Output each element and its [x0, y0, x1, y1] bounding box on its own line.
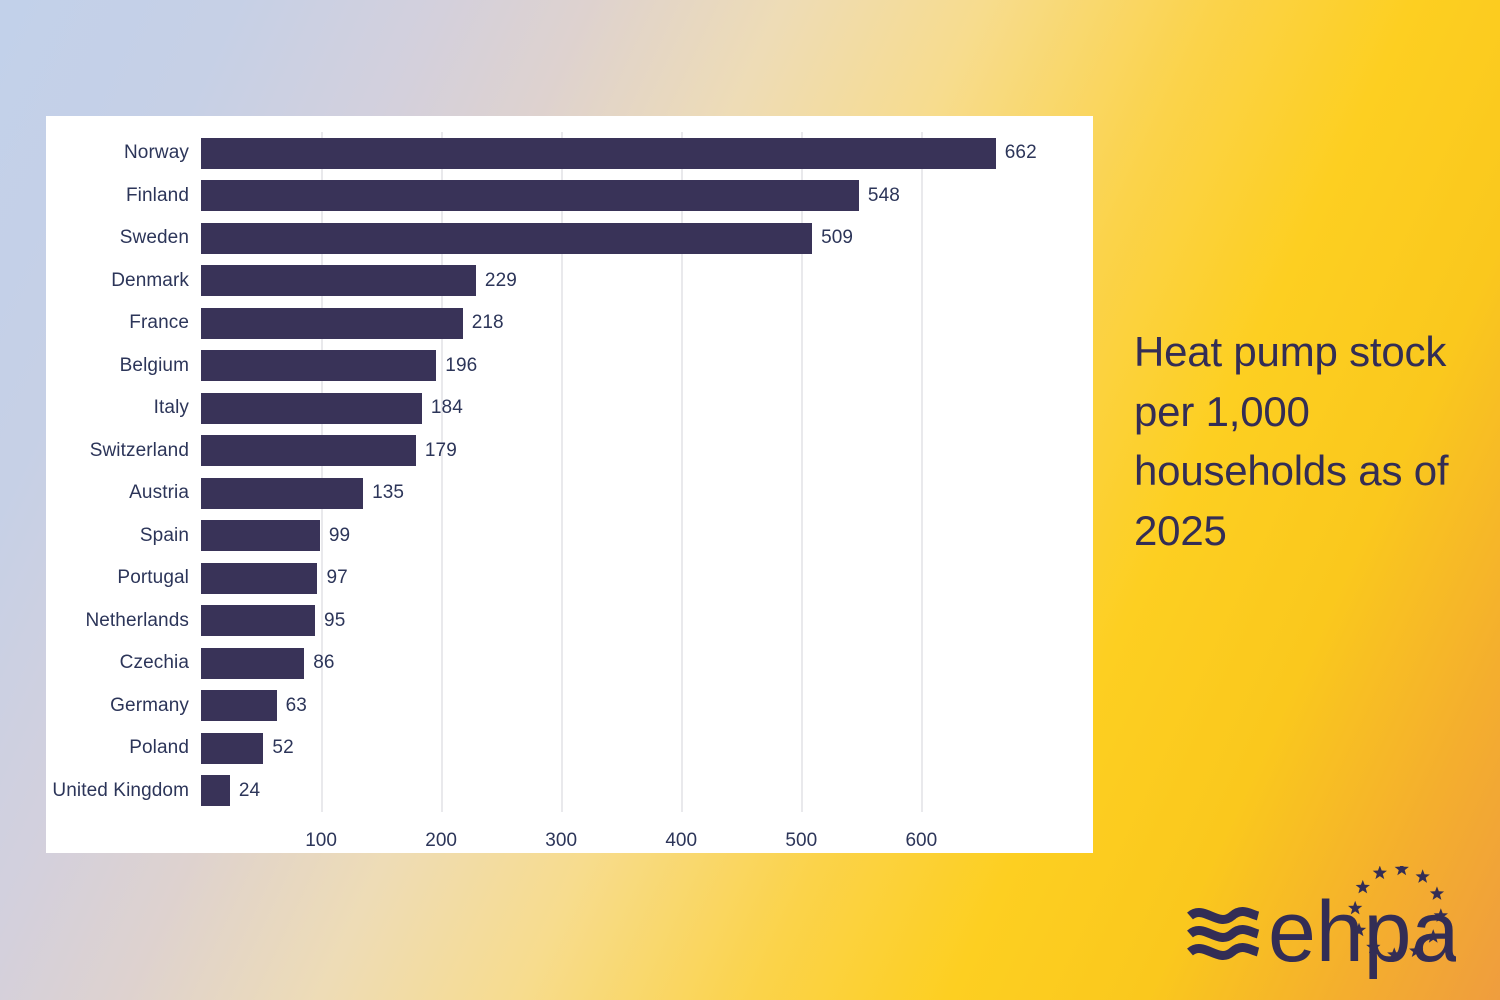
star-icon	[1416, 869, 1430, 883]
chart-panel: 100200300400500600Norway662Finland548Swe…	[46, 116, 1093, 853]
category-label: Finland	[126, 185, 189, 207]
bar-row: Norway662	[201, 138, 1051, 169]
bar[interactable]	[201, 308, 463, 339]
bar-row: Spain99	[201, 520, 1051, 551]
bar-value-label: 99	[329, 525, 350, 547]
x-axis-tick-label: 100	[305, 830, 337, 852]
bar-row: United Kingdom24	[201, 775, 1051, 806]
x-axis-tick-label: 200	[425, 830, 457, 852]
bar-value-label: 52	[272, 737, 293, 759]
bar-value-label: 86	[313, 652, 334, 674]
category-label: Czechia	[120, 652, 189, 674]
bar[interactable]	[201, 435, 416, 466]
category-label: Portugal	[117, 567, 189, 589]
bar-row: Finland548	[201, 180, 1051, 211]
ehpa-logo: ehpa	[1186, 866, 1456, 984]
category-label: Belgium	[120, 355, 189, 377]
bar[interactable]	[201, 733, 263, 764]
bar[interactable]	[201, 775, 230, 806]
category-label: Netherlands	[85, 610, 189, 632]
x-axis-tick-label: 400	[665, 830, 697, 852]
bar[interactable]	[201, 393, 422, 424]
bar-value-label: 135	[372, 482, 404, 504]
bar[interactable]	[201, 265, 476, 296]
bar[interactable]	[201, 180, 859, 211]
bar-value-label: 63	[286, 695, 307, 717]
bar-row: Switzerland179	[201, 435, 1051, 466]
category-label: Norway	[124, 142, 189, 164]
bar-row: Denmark229	[201, 265, 1051, 296]
bar-row: Italy184	[201, 393, 1051, 424]
bar-value-label: 196	[445, 355, 477, 377]
bar-value-label: 218	[472, 312, 504, 334]
bar[interactable]	[201, 690, 277, 721]
bar-value-label: 509	[821, 227, 853, 249]
bar-row: France218	[201, 308, 1051, 339]
bar-value-label: 184	[431, 397, 463, 419]
star-icon	[1395, 866, 1409, 875]
bar-value-label: 24	[239, 780, 260, 802]
bar-value-label: 97	[326, 567, 347, 589]
category-label: Switzerland	[90, 440, 189, 462]
star-icon	[1373, 866, 1387, 879]
bar-value-label: 662	[1005, 142, 1037, 164]
plot-area: 100200300400500600Norway662Finland548Swe…	[201, 132, 1051, 812]
category-label: United Kingdom	[52, 780, 189, 802]
category-label: Germany	[110, 695, 189, 717]
category-label: France	[129, 312, 189, 334]
category-label: Poland	[129, 737, 189, 759]
bar-value-label: 229	[485, 270, 517, 292]
bar-value-label: 548	[868, 185, 900, 207]
category-label: Italy	[154, 397, 189, 419]
bar-row: Poland52	[201, 733, 1051, 764]
x-axis-tick-label: 600	[905, 830, 937, 852]
bar-row: Netherlands95	[201, 605, 1051, 636]
bar[interactable]	[201, 350, 436, 381]
category-label: Sweden	[120, 227, 189, 249]
bar[interactable]	[201, 605, 315, 636]
bar[interactable]	[201, 138, 996, 169]
bar-row: Sweden509	[201, 223, 1051, 254]
bar[interactable]	[201, 520, 320, 551]
bar-row: Germany63	[201, 690, 1051, 721]
bar[interactable]	[201, 563, 317, 594]
bar-value-label: 179	[425, 440, 457, 462]
bar-row: Belgium196	[201, 350, 1051, 381]
bar-row: Czechia86	[201, 648, 1051, 679]
bar-row: Portugal97	[201, 563, 1051, 594]
x-axis-tick-label: 500	[785, 830, 817, 852]
x-axis-tick-label: 300	[545, 830, 577, 852]
ehpa-logo-svg: ehpa	[1186, 866, 1456, 984]
bar[interactable]	[201, 478, 363, 509]
bar[interactable]	[201, 648, 304, 679]
wave-icon	[1190, 912, 1258, 956]
bar-row: Austria135	[201, 478, 1051, 509]
slide-root: 100200300400500600Norway662Finland548Swe…	[0, 0, 1500, 1000]
category-label: Spain	[140, 525, 189, 547]
bar-value-label: 95	[324, 610, 345, 632]
category-label: Austria	[129, 482, 189, 504]
page-title: Heat pump stock per 1,000 households as …	[1134, 322, 1464, 561]
category-label: Denmark	[111, 270, 189, 292]
bar[interactable]	[201, 223, 812, 254]
